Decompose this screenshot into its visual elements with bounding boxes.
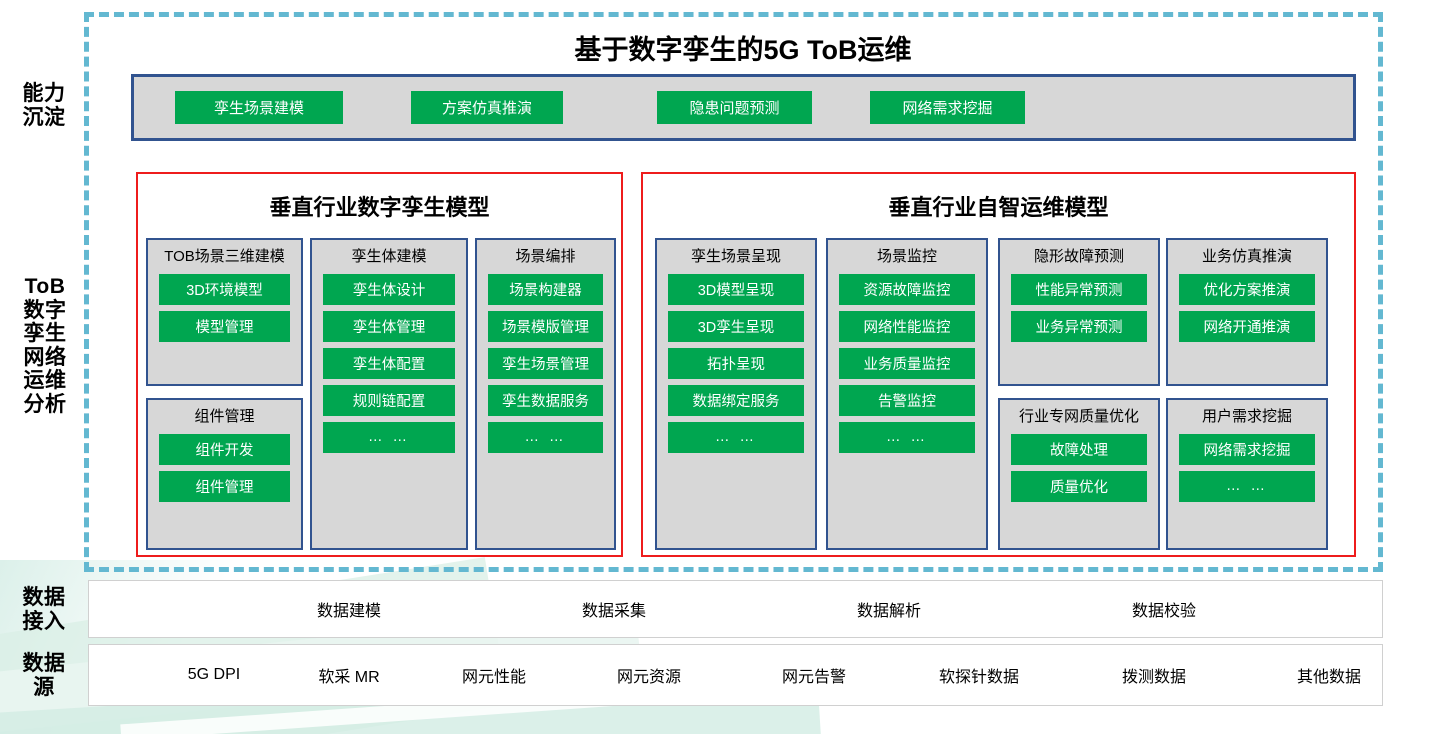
data-source-item[interactable]: 网元性能: [429, 663, 559, 687]
page-title: 基于数字孪生的5G ToB运维: [130, 28, 1356, 67]
row-label-capability: 能力沉淀: [6, 82, 82, 129]
data-source-item[interactable]: 5G DPI: [149, 666, 279, 684]
data-source-item[interactable]: 其他数据: [1264, 663, 1394, 687]
model-left: 垂直行业数字孪生模型TOB场景三维建模3D环境模型模型管理组件管理组件开发组件管…: [136, 172, 623, 557]
capability-chip[interactable]: 隐患问题预测: [657, 91, 812, 124]
panel-col-scene-monitoring: 场景监控资源故障监控网络性能监控业务质量监控告警监控… …: [826, 238, 988, 550]
capability-bar: 孪生场景建模方案仿真推演隐患问题预测网络需求挖掘: [131, 74, 1356, 141]
data-source-item[interactable]: 网元告警: [749, 663, 879, 687]
feature-chip[interactable]: 3D模型呈现: [668, 274, 804, 305]
feature-chip[interactable]: 性能异常预测: [1011, 274, 1147, 305]
data-access-band: 数据建模数据采集数据解析数据校验: [88, 580, 1383, 638]
feature-chip[interactable]: 业务质量监控: [839, 348, 975, 379]
capability-chip[interactable]: 方案仿真推演: [411, 91, 563, 124]
feature-chip[interactable]: … …: [1179, 471, 1315, 502]
panel-heading: 隐形故障预测: [1000, 240, 1158, 268]
capability-chip[interactable]: 孪生场景建模: [175, 91, 343, 124]
feature-chip[interactable]: 3D环境模型: [159, 274, 290, 305]
data-access-item[interactable]: 数据解析: [789, 597, 989, 621]
feature-chip[interactable]: … …: [668, 422, 804, 453]
diagram-canvas: 能力沉淀 ToB数字孪生网络运维分析 数据接入 数据源 基于数字孪生的5G To…: [0, 0, 1438, 734]
feature-chip[interactable]: 网络开通推演: [1179, 311, 1315, 342]
panel-heading: 孪生场景呈现: [657, 240, 815, 268]
model-right: 垂直行业自智运维模型孪生场景呈现3D模型呈现3D孪生呈现拓扑呈现数据绑定服务… …: [641, 172, 1356, 557]
feature-chip[interactable]: 3D孪生呈现: [668, 311, 804, 342]
feature-chip[interactable]: 数据绑定服务: [668, 385, 804, 416]
row-label-tob-analysis: ToB数字孪生网络运维分析: [10, 275, 80, 416]
row-label-data-source: 数据源: [6, 652, 82, 699]
data-source-item[interactable]: 拨测数据: [1089, 663, 1219, 687]
panel-col-tob-3d: 组件管理组件开发组件管理: [146, 398, 303, 550]
feature-chip[interactable]: 规则链配置: [323, 385, 455, 416]
data-source-item[interactable]: 软采 MR: [284, 663, 414, 687]
panel-heading: 孪生体建模: [312, 240, 466, 268]
feature-chip[interactable]: 资源故障监控: [839, 274, 975, 305]
panel-heading: 业务仿真推演: [1168, 240, 1326, 268]
panel-heading: TOB场景三维建模: [148, 240, 301, 268]
panel-col-twin-scene-presentation: 孪生场景呈现3D模型呈现3D孪生呈现拓扑呈现数据绑定服务… …: [655, 238, 817, 550]
feature-chip[interactable]: 场景模版管理: [488, 311, 603, 342]
model-title: 垂直行业数字孪生模型: [138, 190, 621, 222]
panel-col-tob-3d: TOB场景三维建模3D环境模型模型管理: [146, 238, 303, 386]
panel-col-scene-orchestration: 场景编排场景构建器场景模版管理孪生场景管理孪生数据服务… …: [475, 238, 616, 550]
data-access-item[interactable]: 数据采集: [514, 597, 714, 621]
data-source-item[interactable]: 软探针数据: [914, 663, 1044, 687]
panel-heading: 场景监控: [828, 240, 986, 268]
panel-col-fault-prediction: 行业专网质量优化故障处理质量优化: [998, 398, 1160, 550]
panel-heading: 用户需求挖掘: [1168, 400, 1326, 428]
feature-chip[interactable]: … …: [839, 422, 975, 453]
feature-chip[interactable]: 孪生体管理: [323, 311, 455, 342]
feature-chip[interactable]: 故障处理: [1011, 434, 1147, 465]
feature-chip[interactable]: 组件管理: [159, 471, 290, 502]
data-source-band: 5G DPI软采 MR网元性能网元资源网元告警软探针数据拨测数据其他数据: [88, 644, 1383, 706]
feature-chip[interactable]: 场景构建器: [488, 274, 603, 305]
model-title: 垂直行业自智运维模型: [643, 190, 1354, 222]
feature-chip[interactable]: 网络需求挖掘: [1179, 434, 1315, 465]
feature-chip[interactable]: 优化方案推演: [1179, 274, 1315, 305]
panel-col-business-simulation: 用户需求挖掘网络需求挖掘… …: [1166, 398, 1328, 550]
feature-chip[interactable]: 质量优化: [1011, 471, 1147, 502]
data-source-item[interactable]: 网元资源: [584, 663, 714, 687]
data-access-item[interactable]: 数据建模: [249, 597, 449, 621]
feature-chip[interactable]: 拓扑呈现: [668, 348, 804, 379]
panel-heading: 场景编排: [477, 240, 614, 268]
panel-col-fault-prediction: 隐形故障预测性能异常预测业务异常预测: [998, 238, 1160, 386]
feature-chip[interactable]: 网络性能监控: [839, 311, 975, 342]
feature-chip[interactable]: 孪生体配置: [323, 348, 455, 379]
feature-chip[interactable]: … …: [488, 422, 603, 453]
feature-chip[interactable]: 业务异常预测: [1011, 311, 1147, 342]
feature-chip[interactable]: … …: [323, 422, 455, 453]
feature-chip[interactable]: 模型管理: [159, 311, 290, 342]
feature-chip[interactable]: 孪生数据服务: [488, 385, 603, 416]
row-label-data-access: 数据接入: [6, 586, 82, 633]
feature-chip[interactable]: 组件开发: [159, 434, 290, 465]
feature-chip[interactable]: 孪生体设计: [323, 274, 455, 305]
feature-chip[interactable]: 孪生场景管理: [488, 348, 603, 379]
data-access-item[interactable]: 数据校验: [1064, 597, 1264, 621]
feature-chip[interactable]: 告警监控: [839, 385, 975, 416]
panel-col-business-simulation: 业务仿真推演优化方案推演网络开通推演: [1166, 238, 1328, 386]
panel-col-twin-modeling: 孪生体建模孪生体设计孪生体管理孪生体配置规则链配置… …: [310, 238, 468, 550]
panel-heading: 行业专网质量优化: [1000, 400, 1158, 428]
capability-chip[interactable]: 网络需求挖掘: [870, 91, 1025, 124]
panel-heading: 组件管理: [148, 400, 301, 428]
